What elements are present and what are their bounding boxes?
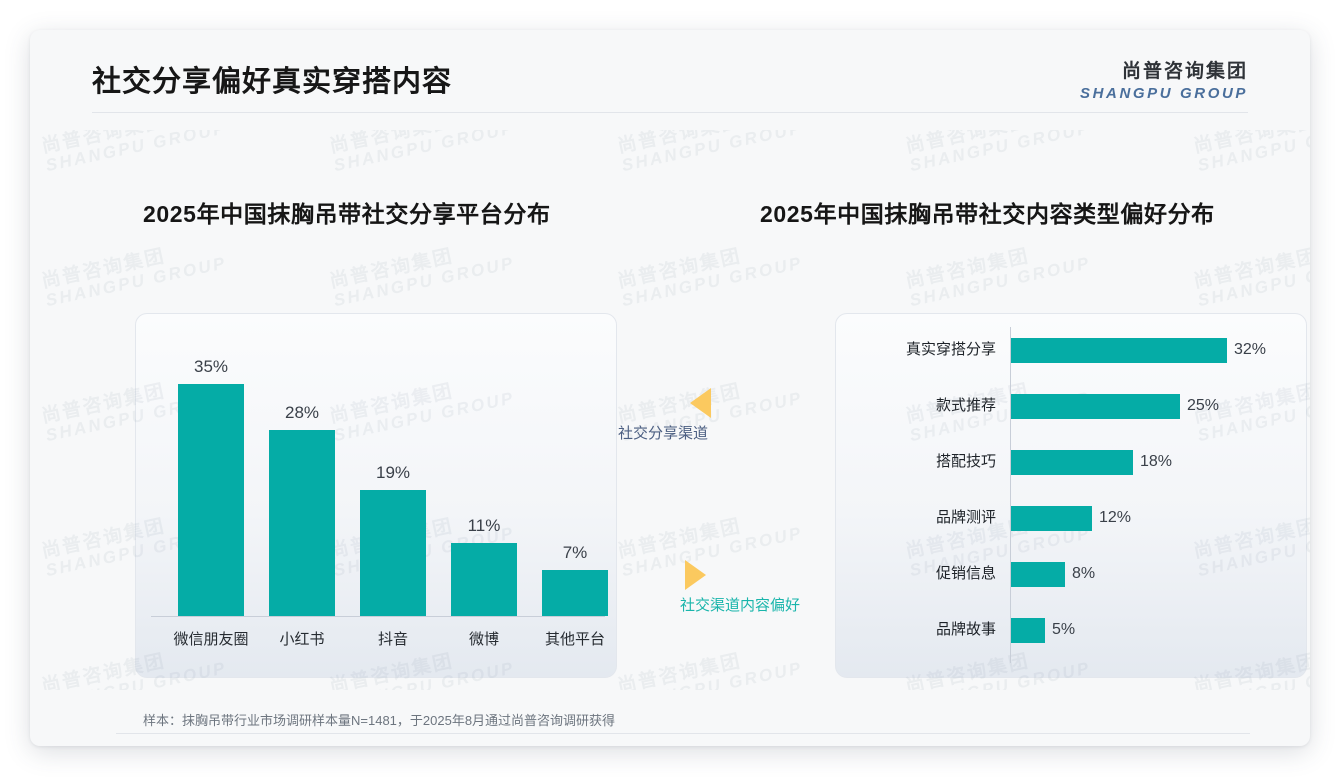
bar-value-label: 12% <box>1099 503 1131 533</box>
bar-value-label: 18% <box>1140 447 1172 477</box>
watermark-text: 尚普咨询集团SHANGPU GROUP <box>904 130 1092 175</box>
bar-chart-item: 促销信息8% <box>835 559 1305 589</box>
column-bar <box>542 570 608 616</box>
page-title: 社交分享偏好真实穿搭内容 <box>92 58 452 100</box>
horizontal-bar <box>1011 562 1065 587</box>
column-category-label: 小红书 <box>255 616 349 649</box>
watermark-text: 尚普咨询集团SHANGPU GROUP <box>1192 130 1310 175</box>
column-value-label: 7% <box>542 543 608 563</box>
horizontal-bar <box>1011 338 1227 363</box>
column-value-label: 28% <box>269 403 335 423</box>
content-type-bar-chart: 真实穿搭分享32%款式推荐25%搭配技巧18%品牌测评12%促销信息8%品牌故事… <box>835 313 1305 676</box>
watermark-text: 尚普咨询集团SHANGPU GROUP <box>328 235 516 310</box>
bar-category-label: 款式推荐 <box>835 391 996 421</box>
column-category-label: 其他平台 <box>528 616 622 649</box>
column-value-label: 35% <box>178 357 244 377</box>
bar-value-label: 5% <box>1052 615 1075 645</box>
right-chart-title: 2025年中国抹胸吊带社交内容类型偏好分布 <box>760 195 1215 229</box>
slide-header: 社交分享偏好真实穿搭内容 尚普咨询集团 SHANGPU GROUP <box>30 30 1310 112</box>
column-chart-item: 35%微信朋友圈 <box>178 384 244 616</box>
logo-english-text: SHANGPU GROUP <box>1080 86 1248 101</box>
logo-chinese-text: 尚普咨询集团 <box>1080 62 1248 81</box>
watermark-text: 尚普咨询集团SHANGPU GROUP <box>1192 235 1310 310</box>
horizontal-bar <box>1011 450 1133 475</box>
bar-chart-item: 真实穿搭分享32% <box>835 335 1305 365</box>
social-platform-column-chart: 35%微信朋友圈28%小红书19%抖音11%微博7%其他平台 <box>135 313 615 676</box>
slide-card: 社交分享偏好真实穿搭内容 尚普咨询集团 SHANGPU GROUP 尚普咨询集团… <box>30 30 1310 746</box>
left-chart-title: 2025年中国抹胸吊带社交分享平台分布 <box>143 195 551 229</box>
column-bar <box>451 543 517 616</box>
triangle-left-icon <box>690 388 711 418</box>
bar-chart-item: 搭配技巧18% <box>835 447 1305 477</box>
watermark-text: 尚普咨询集团SHANGPU GROUP <box>616 640 804 690</box>
bar-category-label: 真实穿搭分享 <box>835 335 996 365</box>
column-bar <box>360 490 426 616</box>
annotation-one-label: 社交分享渠道 <box>618 422 711 443</box>
column-category-label: 微信朋友圈 <box>164 616 258 649</box>
bar-category-label: 促销信息 <box>835 559 996 589</box>
bar-value-label: 32% <box>1234 335 1266 365</box>
watermark-text: 尚普咨询集团SHANGPU GROUP <box>328 130 516 175</box>
column-chart-item: 19%抖音 <box>360 490 426 616</box>
bar-category-label: 品牌测评 <box>835 503 996 533</box>
column-value-label: 11% <box>451 516 517 536</box>
column-value-label: 19% <box>360 463 426 483</box>
bar-category-label: 搭配技巧 <box>835 447 996 477</box>
annotation-channel-content-preference: 社交渠道内容偏好 <box>685 560 800 615</box>
bar-value-label: 8% <box>1072 559 1095 589</box>
column-bar <box>269 430 335 616</box>
column-chart-item: 7%其他平台 <box>542 570 608 616</box>
bar-chart-item: 品牌测评12% <box>835 503 1305 533</box>
bar-category-label: 品牌故事 <box>835 615 996 645</box>
sample-footnote: 样本：抹胸吊带行业市场调研样本量N=1481，于2025年8月通过尚普咨询调研获… <box>143 710 615 729</box>
horizontal-bar <box>1011 618 1045 643</box>
horizontal-bar <box>1011 394 1180 419</box>
horizontal-bar <box>1011 506 1092 531</box>
bar-chart-item: 款式推荐25% <box>835 391 1305 421</box>
footer-divider <box>116 733 1250 734</box>
triangle-right-icon <box>685 560 706 590</box>
watermark-text: 尚普咨询集团SHANGPU GROUP <box>40 235 228 310</box>
annotation-social-share-channel: 社交分享渠道 <box>618 388 711 443</box>
watermark-text: 尚普咨询集团SHANGPU GROUP <box>40 130 228 175</box>
watermark-text: 尚普咨询集团SHANGPU GROUP <box>616 235 804 310</box>
annotation-two-label: 社交渠道内容偏好 <box>680 594 800 615</box>
header-divider <box>92 112 1248 113</box>
column-category-label: 微博 <box>437 616 531 649</box>
column-category-label: 抖音 <box>346 616 440 649</box>
watermark-text: 尚普咨询集团SHANGPU GROUP <box>904 235 1092 310</box>
column-bar <box>178 384 244 616</box>
brand-logo: 尚普咨询集团 SHANGPU GROUP <box>1080 62 1248 101</box>
column-chart-item: 28%小红书 <box>269 430 335 616</box>
column-chart-item: 11%微博 <box>451 543 517 616</box>
bar-chart-axis <box>1010 327 1011 663</box>
watermark-text: 尚普咨询集团SHANGPU GROUP <box>616 130 804 175</box>
bar-value-label: 25% <box>1187 391 1219 421</box>
bar-chart-item: 品牌故事5% <box>835 615 1305 645</box>
